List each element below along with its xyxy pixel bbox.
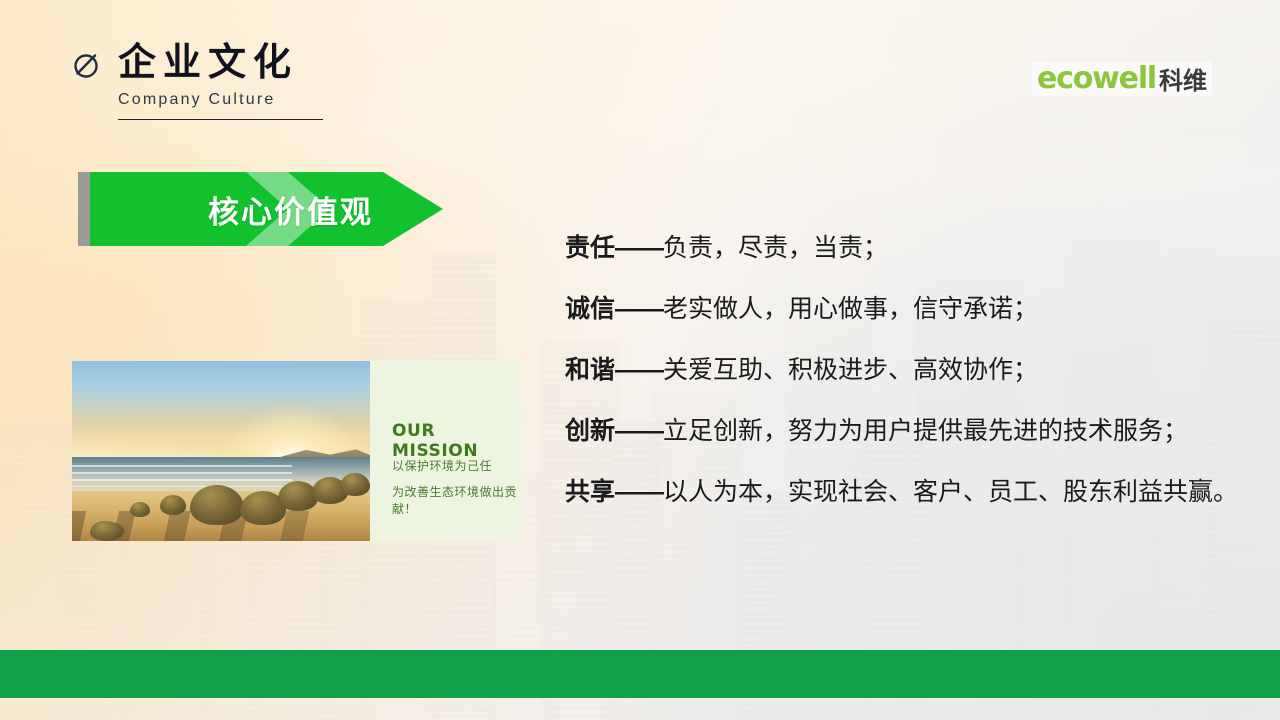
banner-shadow-bar: [78, 172, 91, 246]
page-title: 企业文化: [118, 44, 298, 82]
photo-boulder: [190, 485, 244, 525]
value-dash: ——: [615, 295, 663, 323]
photo-surf: [72, 465, 292, 487]
header-divider: [118, 119, 323, 120]
photo-boulder: [340, 473, 370, 496]
value-key: 诚信: [565, 295, 615, 323]
mission-title: OUR MISSION: [392, 421, 521, 461]
value-dash: ——: [615, 417, 663, 445]
page-header: 企业文化 Company Culture: [72, 44, 323, 120]
brand-name-en: ecowell: [1037, 64, 1156, 94]
value-key: 和谐: [565, 356, 615, 384]
value-description: 立足创新，努力为用户提供最先进的技术服务；: [663, 417, 1188, 445]
value-dash: ——: [615, 234, 663, 262]
value-row: 责任——负责，尽责，当责；: [565, 236, 1265, 261]
value-dash: ——: [615, 356, 663, 384]
footer-bar: [0, 650, 1280, 698]
value-description: 老实做人，用心做事，信守承诺；: [663, 295, 1038, 323]
value-key: 共享: [565, 478, 615, 506]
value-description: 关爱互助、积极进步、高效协作；: [663, 356, 1038, 384]
value-key: 创新: [565, 417, 615, 445]
photo-boulder: [130, 502, 150, 517]
value-key: 责任: [565, 234, 615, 262]
brand-name-cn: 科维: [1159, 69, 1207, 94]
core-values-list: 责任——负责，尽责，当责；诚信——老实做人，用心做事，信守承诺；和谐——关爱互助…: [565, 236, 1265, 541]
banner-label: 核心价值观: [208, 172, 373, 246]
slide-canvas: 企业文化 Company Culture ecowell 科维 核心价值观: [0, 0, 1280, 720]
mission-photo: [72, 361, 370, 541]
mission-line-2: 为改善生态环境做出贡献！: [392, 483, 521, 517]
value-row: 创新——立足创新，努力为用户提供最先进的技术服务；: [565, 419, 1265, 444]
mission-card: OUR MISSION 以保护环境为己任 为改善生态环境做出贡献！: [72, 361, 521, 541]
value-row: 和谐——关爱互助、积极进步、高效协作；: [565, 358, 1265, 383]
photo-driftwood: [90, 521, 124, 541]
value-row: 共享——以人为本，实现社会、客户、员工、股东利益共赢。: [565, 480, 1265, 505]
brand-logo: ecowell 科维: [1032, 62, 1212, 96]
value-row: 诚信——老实做人，用心做事，信守承诺；: [565, 297, 1265, 322]
page-subtitle: Company Culture: [118, 91, 323, 109]
photo-boulder: [160, 495, 186, 515]
mission-line-1: 以保护环境为己任: [392, 457, 492, 474]
value-dash: ——: [615, 478, 663, 506]
slash-circle-icon: [72, 50, 102, 80]
value-description: 负责，尽责，当责；: [663, 234, 888, 262]
value-description: 以人为本，实现社会、客户、员工、股东利益共赢。: [663, 478, 1238, 506]
core-values-banner: 核心价值观: [78, 172, 443, 246]
mission-text-panel: OUR MISSION 以保护环境为己任 为改善生态环境做出贡献！: [370, 361, 521, 541]
